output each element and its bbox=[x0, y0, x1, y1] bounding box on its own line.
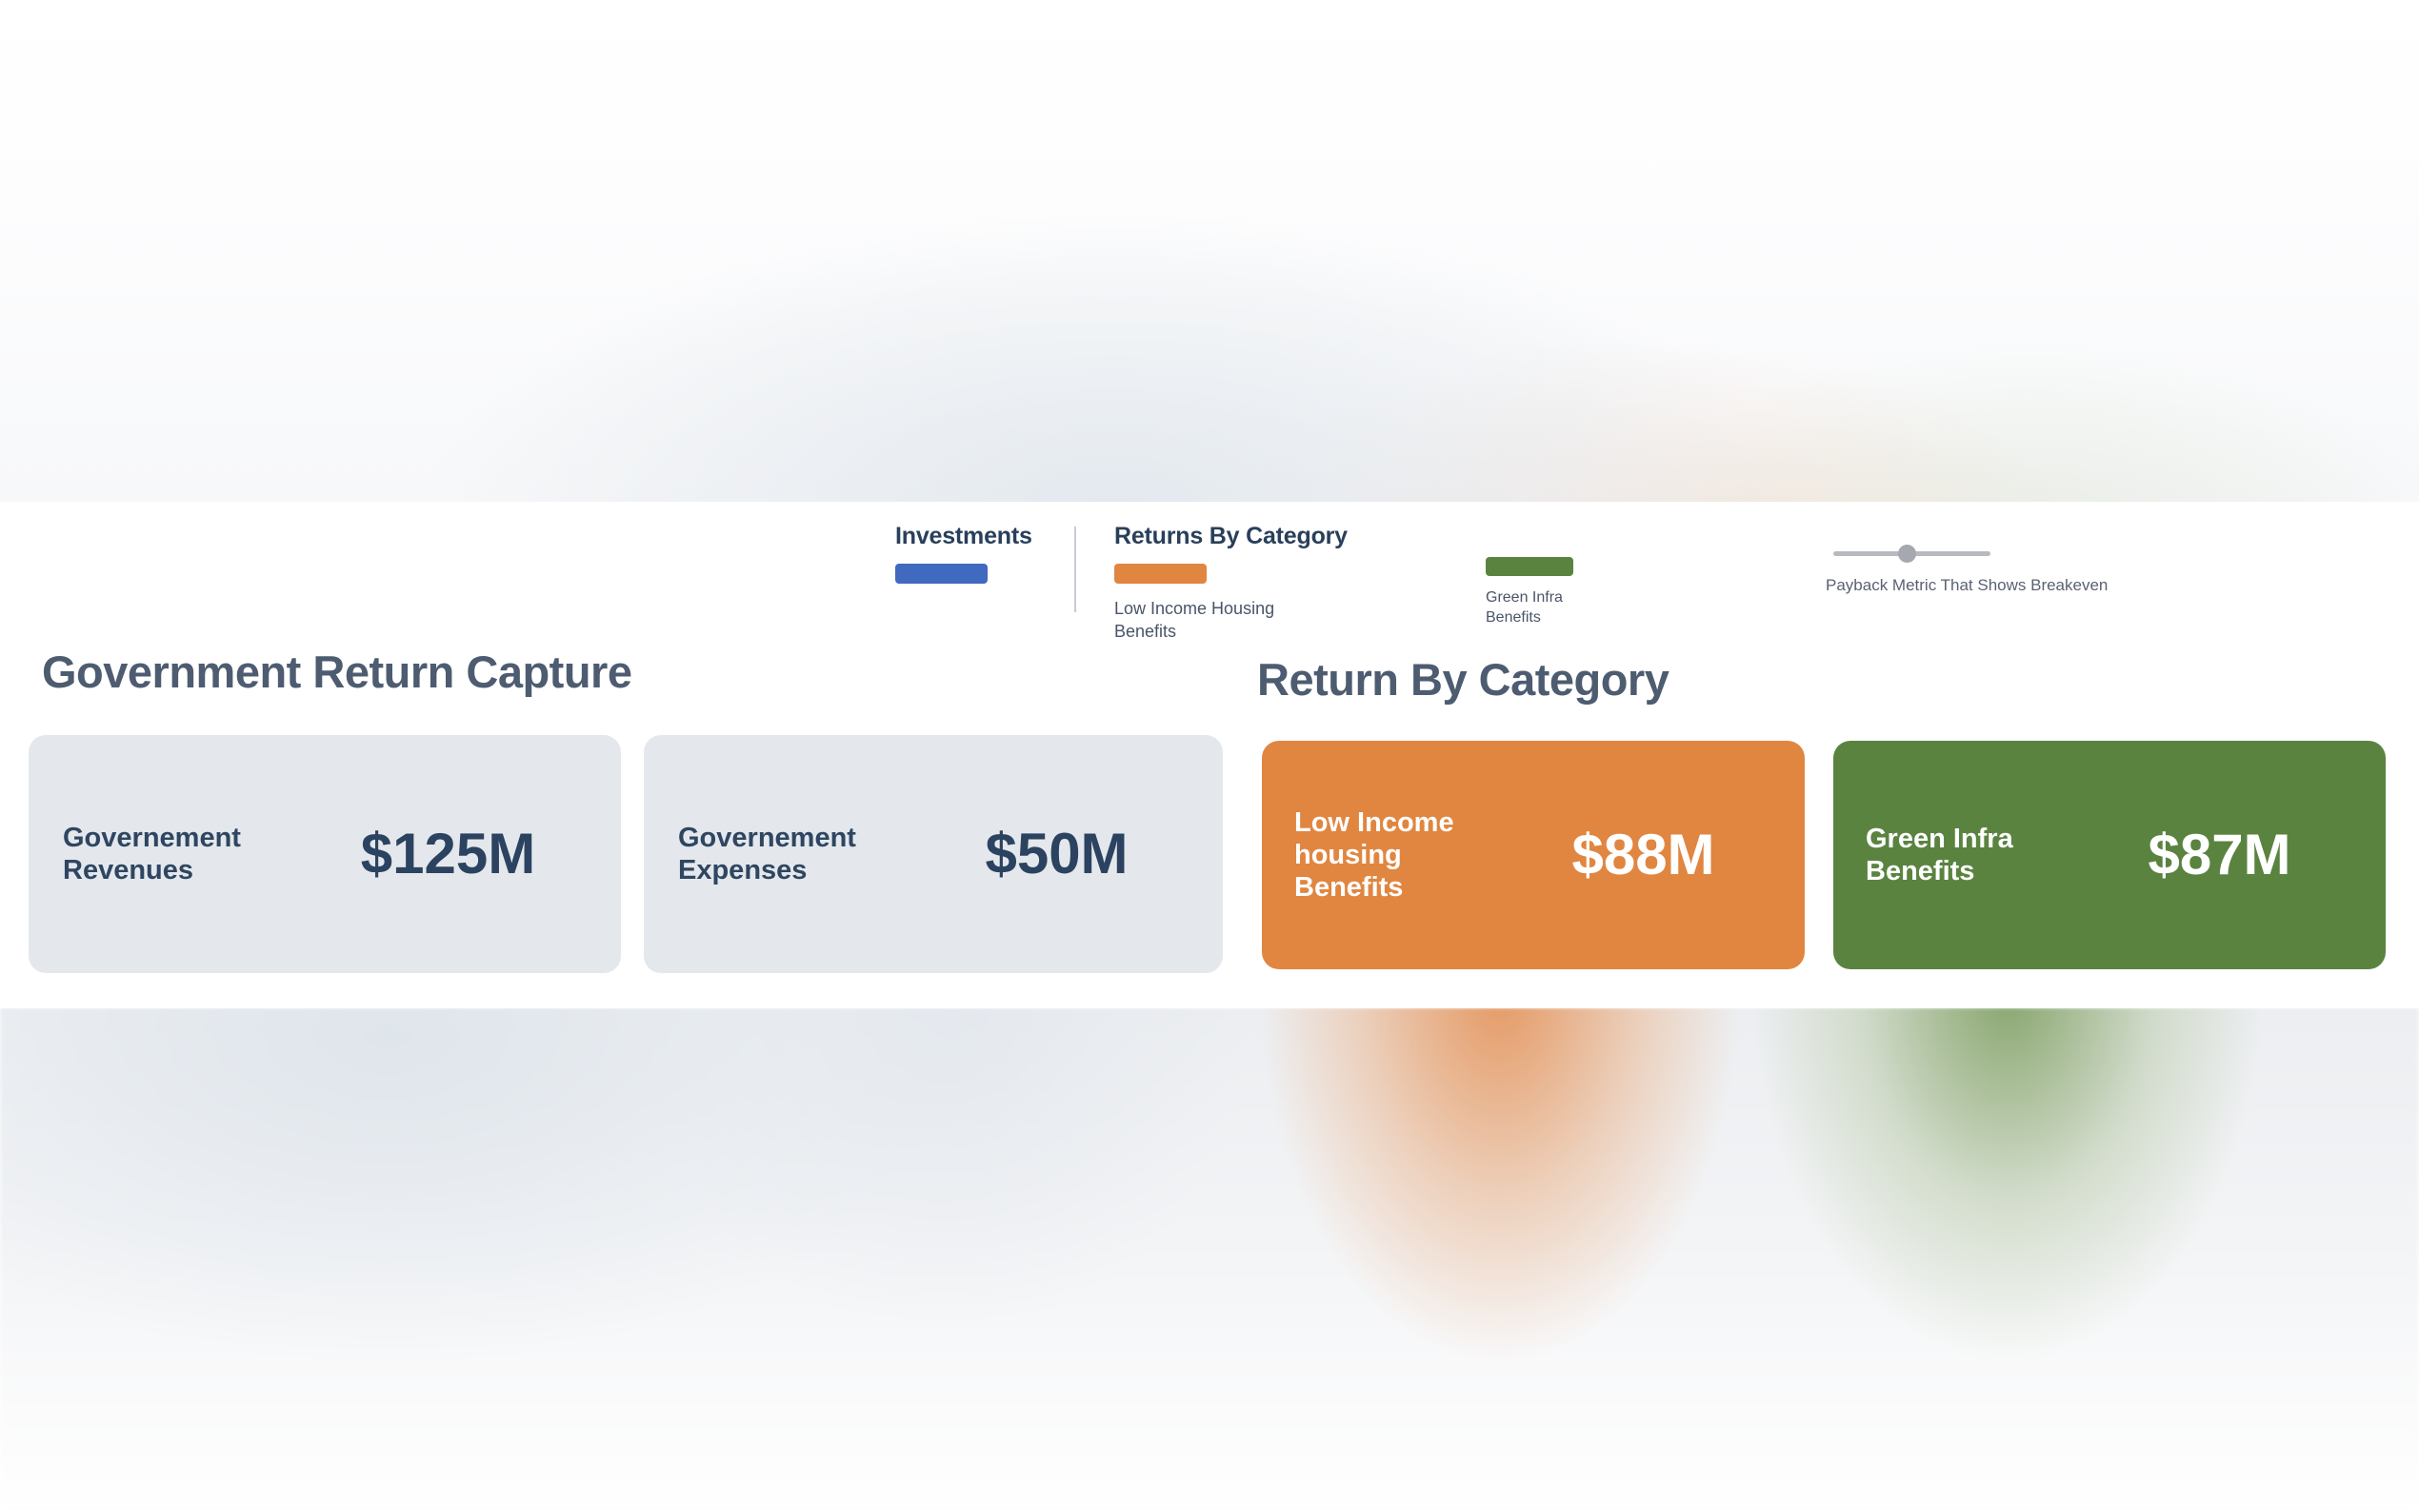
green-infra-swatch bbox=[1486, 557, 1573, 576]
slider-thumb[interactable] bbox=[1898, 545, 1916, 563]
metric-card-green-infra-benefits[interactable]: Green Infra Benefits $87M bbox=[1833, 741, 2386, 969]
metric-card-value: $50M bbox=[921, 826, 1192, 883]
metric-card-government-revenues[interactable]: Governement Revenues $125M bbox=[29, 735, 621, 973]
legend-investments-title: Investments bbox=[895, 523, 1032, 550]
metric-card-label: Green Infra Benefits bbox=[1866, 823, 2080, 887]
page-title-government-return-capture: Government Return Capture bbox=[42, 646, 631, 698]
legend-investments[interactable]: Investments bbox=[895, 523, 1032, 584]
background-gradient-bottom bbox=[0, 1007, 2419, 1512]
green-infra-legend-label: Green Infra Benefits bbox=[1486, 587, 1619, 627]
dashboard-stage: Investments Returns By Category Low Inco… bbox=[0, 0, 2419, 1512]
page-title-return-by-category: Return By Category bbox=[1257, 653, 1669, 706]
legend-returns-by-category[interactable]: Returns By Category Low Income Housing B… bbox=[1114, 523, 1348, 643]
metric-card-government-expenses[interactable]: Governement Expenses $50M bbox=[644, 735, 1223, 973]
metric-card-label: Governement Revenues bbox=[63, 822, 306, 886]
background-gradient-top bbox=[0, 0, 2419, 505]
metric-card-value: $88M bbox=[1509, 826, 1778, 884]
legend-returns-title: Returns By Category bbox=[1114, 523, 1348, 550]
metric-card-value: $125M bbox=[306, 826, 590, 883]
metric-card-low-income-housing-benefits[interactable]: Low Income housing Benefits $88M bbox=[1262, 741, 1805, 969]
slider-label: Payback Metric That Shows Breakeven bbox=[1826, 576, 2108, 595]
slider-track[interactable] bbox=[1833, 551, 1990, 556]
metric-card-label: Low Income housing Benefits bbox=[1294, 806, 1509, 905]
metric-card-label: Governement Expenses bbox=[678, 822, 921, 886]
investments-swatch bbox=[895, 564, 988, 584]
legend-strip: Investments Returns By Category Low Inco… bbox=[0, 502, 2419, 645]
legend-divider bbox=[1074, 527, 1076, 612]
low-income-housing-swatch bbox=[1114, 564, 1207, 584]
metric-card-value: $87M bbox=[2080, 826, 2359, 884]
payback-metric-slider[interactable]: Payback Metric That Shows Breakeven bbox=[1833, 551, 2108, 595]
legend-green-infra[interactable]: Green Infra Benefits bbox=[1486, 557, 1619, 627]
low-income-housing-legend-label: Low Income Housing Benefits bbox=[1114, 597, 1281, 643]
